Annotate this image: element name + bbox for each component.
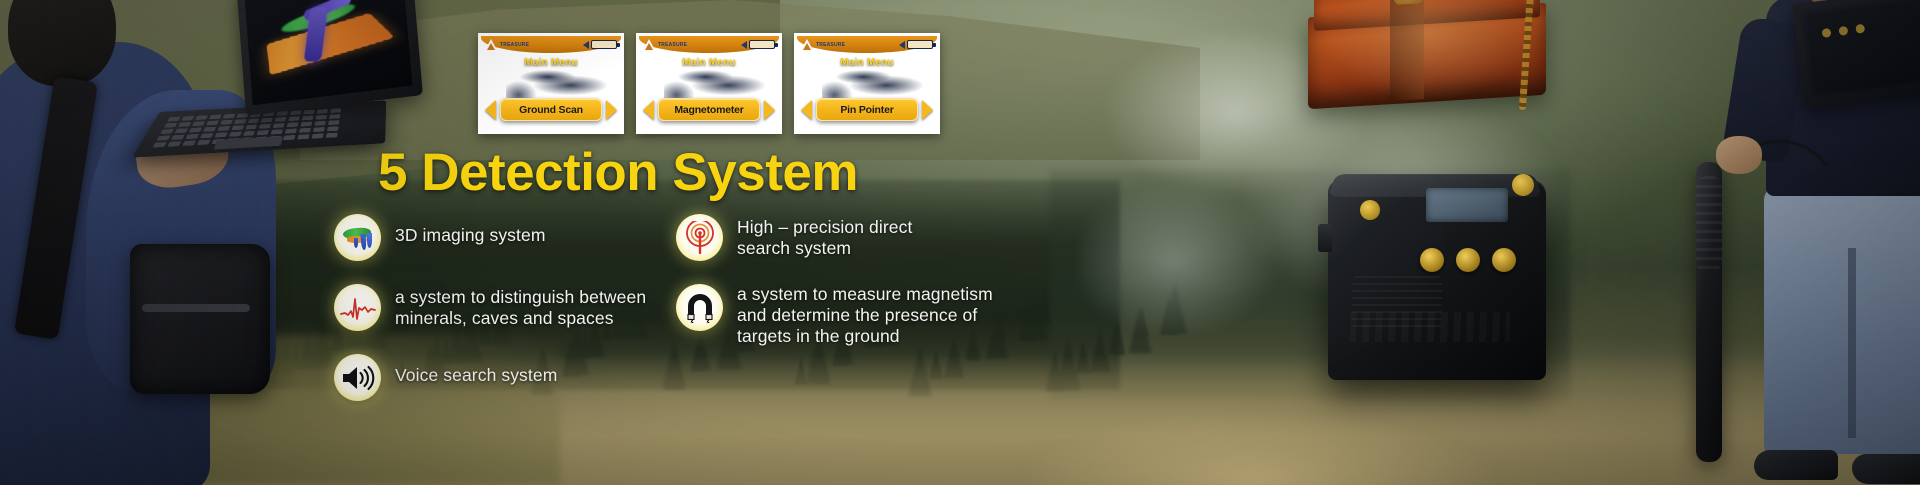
device-screen-inner: TREASURE Main Menu Ground Scan: [481, 36, 621, 131]
laptop-key: [326, 133, 338, 138]
device-screen-2[interactable]: TREASURE Main Menu Magnetometer: [636, 33, 782, 134]
feature-text: 3D imaging system: [395, 214, 546, 246]
laptop-key: [156, 135, 170, 140]
feature-text-line: a system to measure magnetism: [737, 284, 993, 305]
battery-icon: [591, 40, 617, 49]
screen-mode-selector: Ground Scan: [481, 98, 621, 121]
detector-knob-1: [1420, 248, 1444, 272]
laptop-lid: [237, 0, 423, 116]
feature-icon-wrap: [334, 214, 381, 261]
feature-text: Voice search system: [395, 354, 557, 386]
laptop-key: [220, 120, 233, 125]
tablet-dot-3: [1855, 24, 1865, 34]
screen-title: Main Menu: [797, 57, 937, 68]
screen-logo-text: TREASURE: [816, 42, 845, 48]
laptop-key: [312, 133, 324, 138]
mode-button[interactable]: Pin Pointer: [816, 98, 918, 121]
tablet-control-dots: [1821, 24, 1865, 38]
feature-text-line: High – precision direct: [737, 217, 912, 238]
tree-silhouette: [1163, 282, 1187, 334]
chest-band: [1390, 0, 1424, 101]
laptop-key: [200, 133, 213, 138]
screen-status-bar: TREASURE: [639, 36, 779, 53]
feature-item: 3D imaging system: [334, 214, 664, 261]
prev-mode-arrow-icon[interactable]: [801, 100, 812, 120]
handheld-tablet: [1792, 0, 1920, 108]
feature-text: High – precision directsearch system: [737, 214, 912, 259]
laptop-key: [197, 140, 211, 145]
feature-icon-wrap: [334, 354, 381, 401]
screen-status-bar: TREASURE: [481, 36, 621, 53]
next-mode-arrow-icon[interactable]: [764, 100, 775, 120]
battery-icon: [749, 40, 775, 49]
screen-logo-text: TREASURE: [500, 42, 529, 48]
laptop-key: [245, 124, 257, 129]
speaker-icon: [899, 41, 905, 49]
detector-knob-3: [1492, 248, 1516, 272]
feature-list-right: High – precision directsearch system a s…: [676, 214, 1036, 370]
tablet-dot-2: [1838, 26, 1848, 36]
next-mode-arrow-icon[interactable]: [922, 100, 933, 120]
feature-text-line: and determine the presence of: [737, 305, 993, 326]
tree-silhouette: [1037, 294, 1051, 323]
tree-silhouette: [1136, 308, 1149, 335]
laptop-key: [328, 120, 339, 125]
laptop-key: [203, 127, 216, 132]
laptop-key: [217, 126, 230, 131]
laptop-key: [257, 130, 269, 135]
screen-logo: TREASURE: [643, 39, 687, 50]
laptop-key: [195, 115, 208, 120]
laptop-key: [330, 108, 341, 113]
laptop-key: [206, 121, 219, 126]
laptop-key: [317, 109, 328, 114]
mountain-logo-icon: [801, 39, 814, 50]
operator-shoe-right: [1852, 454, 1920, 484]
feature-text: a system to measure magnetismand determi…: [737, 284, 993, 347]
laptop-key: [167, 141, 181, 146]
feature-item: a system to distinguish betweenminerals,…: [334, 284, 664, 331]
feature-text-line: 3D imaging system: [395, 225, 546, 246]
screen-title: Main Menu: [639, 57, 779, 68]
feature-text-line: search system: [737, 238, 912, 259]
laptop-key: [152, 142, 166, 147]
search-probe: [1696, 162, 1722, 462]
laptop-key: [316, 115, 327, 120]
laptop-key: [214, 132, 227, 137]
radio-signal-icon: [683, 221, 717, 255]
laptop-key: [228, 132, 241, 137]
laptop-key: [231, 125, 244, 130]
mode-button[interactable]: Magnetometer: [658, 98, 760, 121]
detector-side-handle: [1318, 224, 1332, 252]
laptop-key: [261, 118, 273, 123]
laptop-key: [329, 114, 340, 119]
laptop-key: [160, 129, 174, 134]
speaker-volume-icon: [341, 365, 375, 391]
laptop-key: [259, 124, 271, 129]
laptop-key: [314, 121, 326, 126]
detector-knob-2: [1456, 248, 1480, 272]
detector-lcd: [1426, 188, 1508, 222]
laptop-key: [181, 116, 194, 121]
laptop-key: [185, 134, 199, 139]
screen-title: Main Menu: [481, 57, 621, 68]
device-screen-inner: TREASURE Main Menu Magnetometer: [639, 36, 779, 131]
operator-legs: [1764, 186, 1920, 454]
laptop-key: [290, 110, 302, 115]
screen-logo: TREASURE: [801, 39, 845, 50]
laptop-key: [222, 114, 234, 119]
tree-silhouette: [1109, 318, 1126, 354]
laptop-key: [209, 115, 222, 120]
probe-grip: [1696, 176, 1722, 272]
waveform-pulse-icon: [340, 295, 376, 321]
laptop-key: [299, 128, 311, 133]
laptop-key: [283, 135, 295, 140]
feature-text-line: targets in the ground: [737, 326, 993, 347]
detector-knob-row: [1420, 248, 1516, 272]
laptop-key: [289, 116, 301, 121]
laptop-key: [243, 131, 256, 136]
feature-list-left: 3D imaging system a system to distinguis…: [334, 214, 664, 424]
screen-logo-text: TREASURE: [658, 42, 687, 48]
prev-mode-arrow-icon[interactable]: [643, 100, 654, 120]
feature-icon-wrap: [676, 214, 723, 261]
laptop-screen: [244, 0, 412, 105]
mountain-logo-icon: [485, 39, 498, 50]
device-screen-3[interactable]: TREASURE Main Menu Pin Pointer: [794, 33, 940, 134]
laptop-key: [234, 119, 246, 124]
screen-status-indicators: [741, 40, 775, 49]
prev-mode-arrow-icon[interactable]: [485, 100, 496, 120]
laptop-key: [298, 134, 310, 139]
detector-corner-bolt: [1512, 174, 1534, 196]
laptop-key: [247, 118, 259, 123]
device-screen-group: TREASURE Main Menu Ground Scan: [478, 33, 940, 134]
laptop-key: [304, 110, 315, 115]
screen-mode-selector: Pin Pointer: [797, 98, 937, 121]
operator-hand-right: [1716, 136, 1762, 174]
screen-status-indicators: [899, 40, 933, 49]
feature-icon-wrap: [334, 284, 381, 331]
laptop-key: [164, 123, 177, 128]
detector-brand-embossing: [1350, 312, 1510, 342]
tablet-dot-1: [1821, 28, 1831, 38]
laptop-3d-scan-display: [148, 0, 410, 166]
3d-terrain-icon: [341, 225, 375, 251]
laptop-key: [327, 126, 339, 131]
feature-item: High – precision directsearch system: [676, 214, 1036, 261]
laptop-key: [171, 135, 185, 140]
equipment-bag: [130, 244, 270, 394]
screen-mode-selector: Magnetometer: [639, 98, 779, 121]
detector-side-bolt: [1360, 200, 1380, 220]
mountain-logo-icon: [643, 39, 656, 50]
laptop-key: [178, 122, 191, 127]
3d-scan-visualization: [244, 0, 412, 105]
laptop-key: [271, 129, 283, 134]
laptop-key: [182, 140, 196, 145]
dirt-path: [980, 365, 1600, 485]
laptop-key: [287, 122, 299, 127]
laptop-key: [192, 121, 205, 126]
feature-text: a system to distinguish betweenminerals,…: [395, 284, 646, 329]
promo-banner: TREASURE Main Menu Ground Scan: [0, 0, 1920, 485]
page-title: 5 Detection System: [378, 142, 848, 203]
laptop-key: [174, 128, 187, 133]
laptop-key: [167, 117, 180, 122]
feature-text-line: a system to distinguish between: [395, 287, 646, 308]
feature-text-line: minerals, caves and spaces: [395, 308, 646, 329]
device-screen-1[interactable]: TREASURE Main Menu Ground Scan: [478, 33, 624, 134]
laptop-key: [275, 117, 287, 122]
laptop-key: [273, 123, 285, 128]
next-mode-arrow-icon[interactable]: [606, 100, 617, 120]
feature-icon-wrap: [676, 284, 723, 331]
feature-item: a system to measure magnetismand determi…: [676, 284, 1036, 347]
mode-button[interactable]: Ground Scan: [500, 98, 602, 121]
device-screen-inner: TREASURE Main Menu Pin Pointer: [797, 36, 937, 131]
feature-text-line: Voice search system: [395, 365, 557, 386]
screen-status-bar: TREASURE: [797, 36, 937, 53]
laptop-key: [285, 129, 297, 134]
battery-icon: [907, 40, 933, 49]
operator-shoe-left: [1754, 450, 1838, 480]
speaker-icon: [583, 41, 589, 49]
operator-with-probe: [1620, 0, 1920, 485]
screen-status-indicators: [583, 40, 617, 49]
feature-item: Voice search system: [334, 354, 664, 401]
laptop-key: [301, 122, 313, 127]
laptop-key: [189, 127, 202, 132]
screen-logo: TREASURE: [485, 39, 529, 50]
horseshoe-magnet-icon: [685, 293, 715, 323]
laptop-key: [302, 116, 314, 121]
treasure-chest: [1308, 0, 1546, 106]
speaker-icon: [741, 41, 747, 49]
laptop-key: [313, 127, 325, 132]
main-detector-unit: [1328, 180, 1546, 380]
leg-seam: [1848, 248, 1856, 438]
